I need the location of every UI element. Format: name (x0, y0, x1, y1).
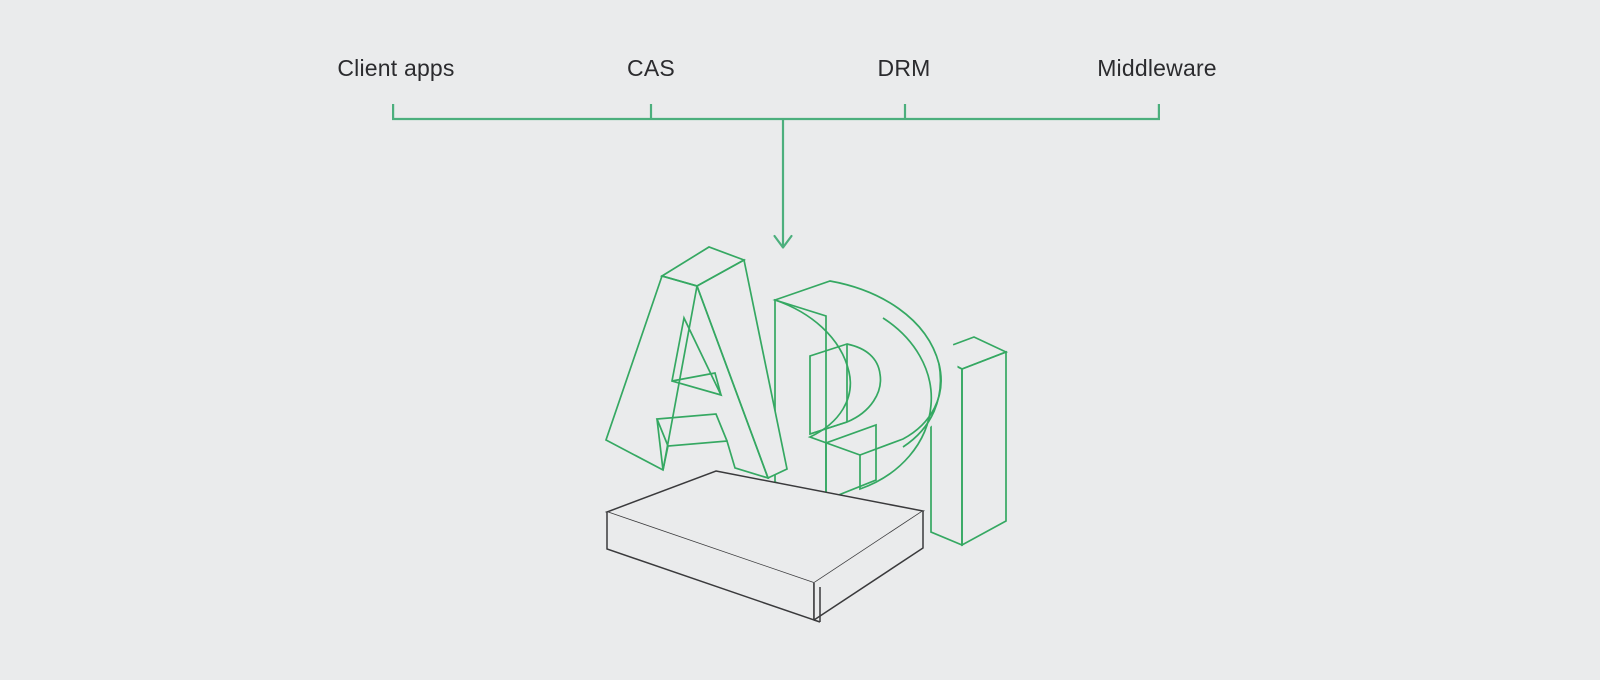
isometric-api-illustration (606, 247, 1006, 622)
iso-letter-a (606, 247, 787, 478)
slab-front-corner-bottom (814, 620, 820, 622)
iso-base-slab (607, 471, 923, 622)
diagram-graphics (0, 0, 1600, 680)
flow-arrow (775, 119, 792, 248)
diagram-canvas: Client apps CAS DRM Middleware (0, 0, 1600, 680)
grouping-bracket (392, 104, 1160, 119)
